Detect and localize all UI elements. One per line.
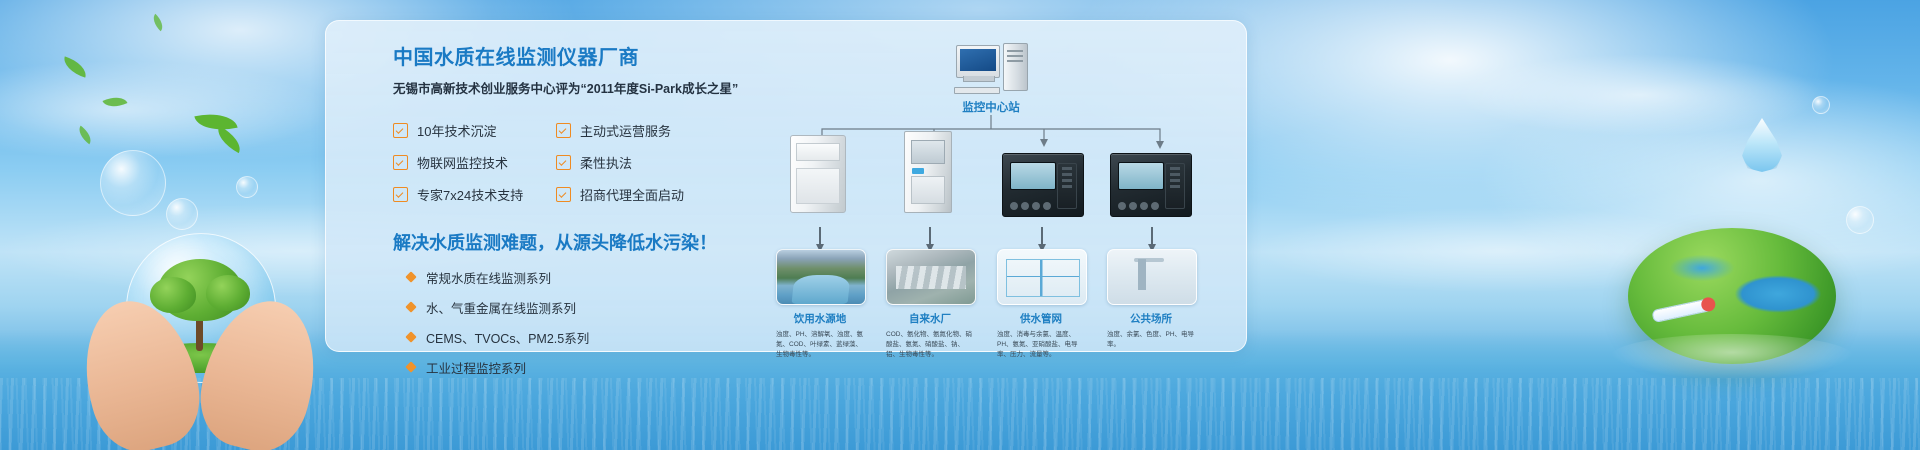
bubble-icon (100, 150, 166, 216)
down-arrow-icon (1041, 227, 1043, 245)
application-card[interactable]: 公共场所 浊度、余氯、色度、PH、电导率。 (1107, 249, 1195, 350)
bubble-icon (1846, 206, 1874, 234)
device-water-cabinet (776, 133, 864, 213)
application-title: 自来水厂 (886, 311, 974, 326)
terminal-strip (1057, 163, 1077, 209)
device-indicator (912, 168, 924, 174)
device-panel-controller-1 (998, 147, 1086, 227)
river-landscape-thumbnail (776, 249, 866, 305)
diamond-bullet-icon (405, 332, 416, 343)
device-screen (911, 140, 945, 164)
keypad (1010, 197, 1056, 210)
feature-label: 10年技术沉淀 (417, 121, 496, 140)
page-title: 中国水质在线监测仪器厂商 (393, 46, 743, 70)
list-item: CEMS、TVOCs、PM2.5系列 (407, 328, 743, 347)
feature-label: 招商代理全面启动 (580, 185, 684, 204)
application-card[interactable]: 自来水厂 COD、氨化物、氨氮化物、硝酸盐、氨氮、硝酸盐、钠、铝、生物毒性等。 (886, 249, 974, 359)
checkbox-checked-icon (556, 187, 571, 202)
device-body (911, 176, 945, 204)
keypad (1118, 197, 1164, 210)
hand-washing-tap-thumbnail (1107, 249, 1197, 305)
diamond-bullet-icon (405, 272, 416, 283)
system-diagram: 监控中心站 (766, 37, 1216, 337)
diamond-bullet-icon (405, 362, 416, 373)
checkbox-checked-icon (393, 123, 408, 138)
panel-controller-icon (1110, 153, 1192, 217)
panel-controller-icon (1002, 153, 1084, 217)
checkbox-checked-icon (393, 155, 408, 170)
feature-label: 主动式运营服务 (580, 121, 671, 140)
feature-item: 物联网监控技术 (393, 153, 556, 172)
pipe-network-thumbnail (997, 249, 1087, 305)
feature-label: 柔性执法 (580, 153, 632, 172)
application-title: 饮用水源地 (776, 311, 864, 326)
feature-label: 物联网监控技术 (417, 153, 508, 172)
page-subtitle: 无锡市高新技术创业服务中心评为“2011年度Si-Park成长之星” (393, 81, 743, 97)
list-item: 常规水质在线监测系列 (407, 268, 743, 287)
tree-canopy (206, 275, 250, 311)
tree-canopy (150, 277, 196, 313)
application-description: COD、氨化物、氨氮化物、硝酸盐、氨氮、硝酸盐、钠、铝、生物毒性等。 (886, 330, 974, 359)
panel-left-column: 中国水质在线监测仪器厂商 无锡市高新技术创业服务中心评为“2011年度Si-Pa… (393, 46, 743, 388)
application-title: 供水管网 (997, 311, 1085, 326)
banner-stage: 中国水质在线监测仪器厂商 无锡市高新技术创业服务中心评为“2011年度Si-Pa… (0, 0, 1920, 450)
lcd-screen (1010, 162, 1056, 190)
rack-analyzer-icon (904, 131, 952, 213)
list-item-label: CEMS、TVOCs、PM2.5系列 (426, 328, 589, 347)
bubble-icon (1812, 96, 1830, 114)
device-panel-controller-2 (1106, 147, 1194, 227)
hands-holding-sapling (80, 215, 320, 450)
section-title: 解决水质监测难题，从源头降低水污染！ (393, 233, 743, 255)
feature-item: 专家7x24技术支持 (393, 185, 556, 204)
feature-item: 招商代理全面启动 (556, 185, 719, 204)
down-arrow-icon (819, 227, 821, 245)
application-description: 浊度、消毒与余氯、温度、PH、氨氮、亚硝酸盐、电导率、压力、流量等。 (997, 330, 1085, 359)
application-description: 浊度、余氯、色度、PH、电导率。 (1107, 330, 1195, 350)
grass-earth-globe (1628, 228, 1836, 364)
content-panel: 中国水质在线监测仪器厂商 无锡市高新技术创业服务中心评为“2011年度Si-Pa… (325, 20, 1247, 352)
waterworks-aerial-thumbnail (886, 249, 976, 305)
list-item-label: 工业过程监控系列 (426, 358, 526, 377)
feature-checklist: 10年技术沉淀 主动式运营服务 物联网监控技术 柔性执法 专家7x24技术支持 (393, 121, 743, 204)
product-series-list: 常规水质在线监测系列 水、气重金属在线监测系列 CEMS、TVOCs、PM2.5… (407, 268, 743, 377)
feature-label: 专家7x24技术支持 (417, 185, 523, 204)
application-card[interactable]: 饮用水源地 浊度、PH、溶解氧、浊度、氨氮、COD、叶绿素、蓝绿藻、生物毒性等。 (776, 249, 864, 359)
application-description: 浊度、PH、溶解氧、浊度、氨氮、COD、叶绿素、蓝绿藻、生物毒性等。 (776, 330, 864, 359)
list-item: 工业过程监控系列 (407, 358, 743, 377)
list-item-label: 常规水质在线监测系列 (426, 268, 551, 287)
application-card[interactable]: 供水管网 浊度、消毒与余氯、温度、PH、氨氮、亚硝酸盐、电导率、压力、流量等。 (997, 249, 1085, 359)
cabinet-analyzer-icon (790, 135, 846, 213)
checkbox-checked-icon (556, 155, 571, 170)
feature-item: 主动式运营服务 (556, 121, 719, 140)
list-item-label: 水、气重金属在线监测系列 (426, 298, 576, 317)
diamond-bullet-icon (405, 302, 416, 313)
list-item: 水、气重金属在线监测系列 (407, 298, 743, 317)
application-title: 公共场所 (1107, 311, 1195, 326)
feature-item: 柔性执法 (556, 153, 719, 172)
bubble-icon (236, 176, 258, 198)
down-arrow-icon (929, 227, 931, 245)
device-rack-analyzer (886, 131, 974, 211)
terminal-strip (1165, 163, 1185, 209)
checkbox-checked-icon (556, 123, 571, 138)
feature-item: 10年技术沉淀 (393, 121, 556, 140)
down-arrow-icon (1151, 227, 1153, 245)
checkbox-checked-icon (393, 187, 408, 202)
lcd-screen (1118, 162, 1164, 190)
